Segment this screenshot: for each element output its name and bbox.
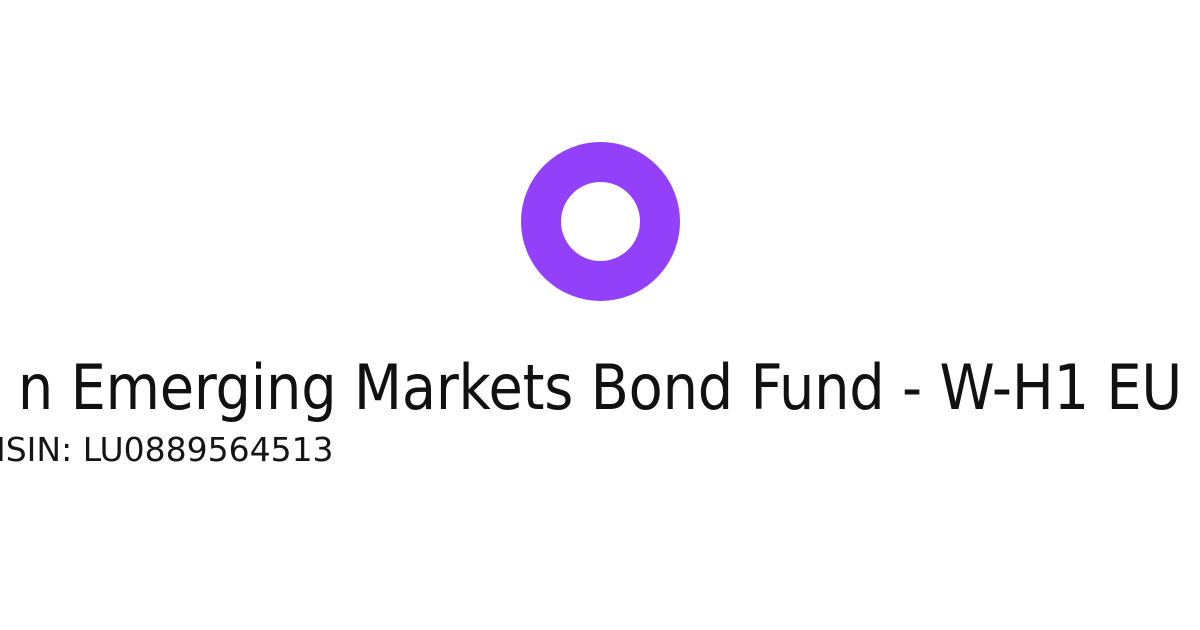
fund-title: n Emerging Markets Bond Fund - W-H1 EU [0,352,1200,424]
logo-container [0,142,1200,301]
fund-preview-card: n Emerging Markets Bond Fund - W-H1 EU I… [0,0,1200,630]
ring-logo-icon [521,142,680,301]
fund-text-block: n Emerging Markets Bond Fund - W-H1 EU I… [0,352,1200,470]
fund-isin: ISIN: LU0889564513 [0,430,1200,470]
